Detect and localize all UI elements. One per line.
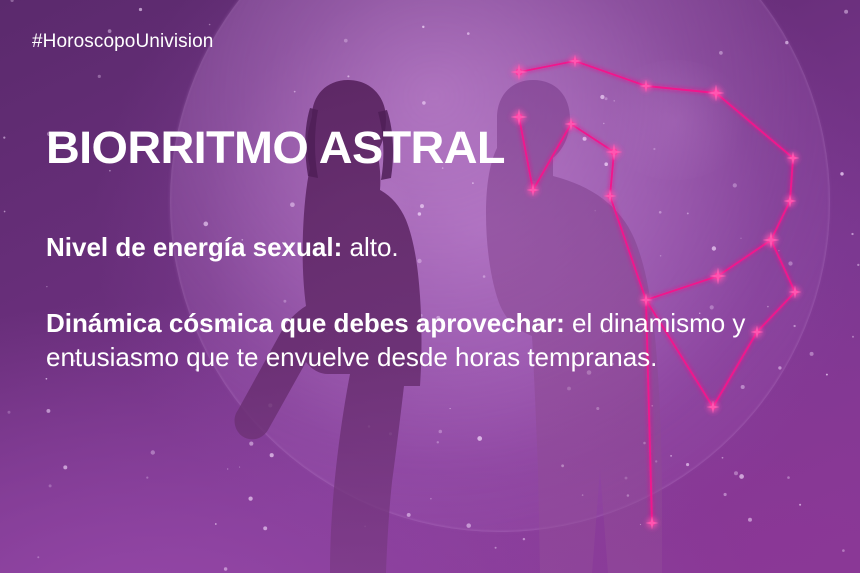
cosmic-dynamic-label: Dinámica cósmica que debes aprovechar:	[46, 308, 565, 338]
energy-level-label: Nivel de energía sexual:	[46, 232, 342, 262]
page-title: BIORRITMO ASTRAL	[46, 124, 505, 172]
cosmic-dynamic-spacer	[565, 308, 572, 338]
hashtag-label: #HoroscopoUnivision	[32, 31, 213, 53]
energy-level-value: alto.	[349, 232, 398, 262]
cosmic-dynamic-paragraph: Dinámica cósmica que debes aprovechar: e…	[46, 306, 776, 374]
horoscope-card: #HoroscopoUnivision BIORRITMO ASTRAL Niv…	[0, 0, 860, 573]
energy-level-paragraph: Nivel de energía sexual: alto.	[46, 230, 776, 264]
text-content: #HoroscopoUnivision BIORRITMO ASTRAL Niv…	[0, 0, 860, 573]
